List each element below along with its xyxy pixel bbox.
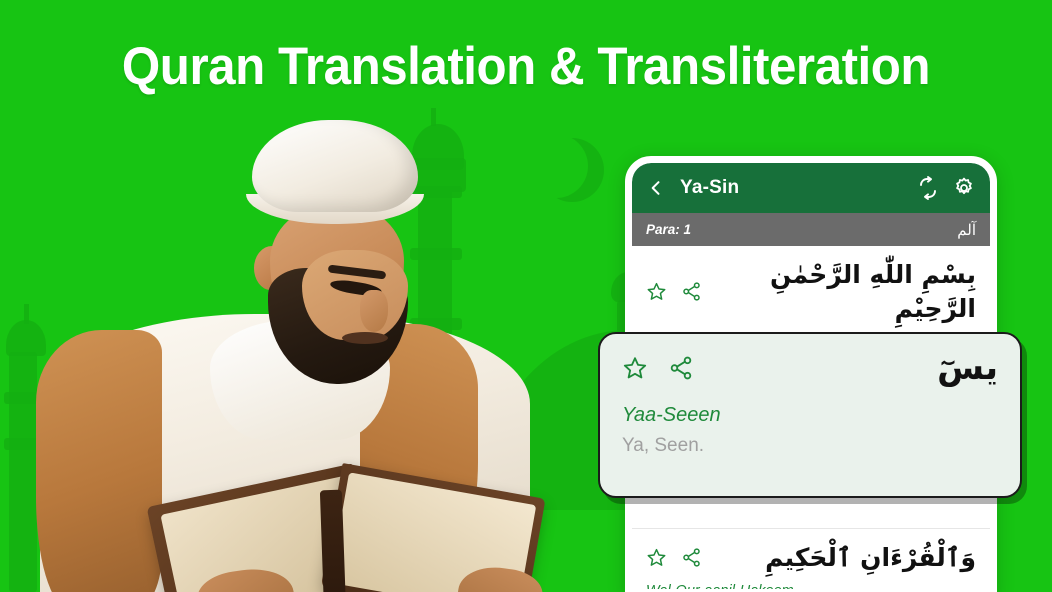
chevron-left-icon[interactable] [646,178,666,198]
verse-row[interactable]: وَٱلْقُرْءَانِ ٱلْحَكِيمِ Wal-Qur-aanil-… [632,529,990,592]
repeat-icon[interactable] [916,176,940,200]
highlight-verse-translation: Ya, Seen. [622,435,998,457]
verse-transliteration: Wal-Qur-aanil-Hakeem [646,583,976,592]
page-title: Quran Translation & Transliteration [37,36,1015,97]
highlighted-verse-card[interactable]: يسٓ Yaa-Seeen Ya, Seen. [598,332,1022,498]
star-outline-icon[interactable] [622,355,648,381]
verse-arabic: وَٱلْقُرْءَانِ ٱلْحَكِيمِ [702,541,976,575]
star-outline-icon[interactable] [646,547,667,568]
man-reading-quran-illustration [30,118,550,592]
highlight-verse-arabic: يسٓ [694,348,998,388]
promo-banner: Quran Translation & Transliteration Ya [0,0,1052,592]
share-icon[interactable] [668,355,694,381]
para-label: Para: 1 [646,222,691,237]
para-arabic-label: آلم [957,221,976,239]
gear-icon[interactable] [952,176,976,200]
share-icon[interactable] [681,547,702,568]
share-icon[interactable] [681,281,702,302]
app-bar: Ya-Sin [632,163,990,213]
surah-title: Ya-Sin [680,177,904,199]
star-outline-icon[interactable] [646,281,667,302]
verse-arabic: بِسْمِ اللّٰهِ الرَّحْمٰنِ الرَّحِيْمِ [702,258,976,326]
highlight-verse-transliteration: Yaa-Seeen [622,404,998,427]
para-bar: Para: 1 آلم [632,213,990,246]
